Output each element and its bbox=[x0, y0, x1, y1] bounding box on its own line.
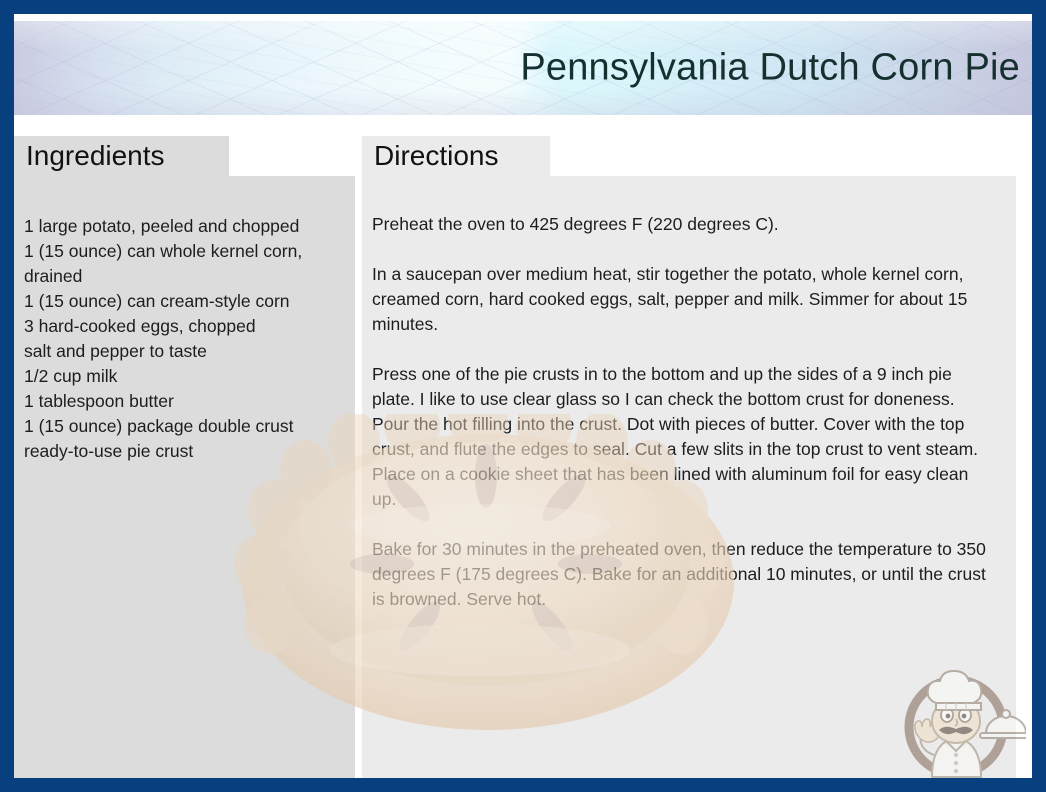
direction-step: In a saucepan over medium heat, stir tog… bbox=[372, 262, 994, 337]
direction-step: Press one of the pie crusts in to the bo… bbox=[372, 362, 994, 512]
list-item: 1 large potato, peeled and chopped bbox=[24, 214, 341, 239]
directions-panel: Directions Preheat the oven to 425 degre… bbox=[362, 136, 1032, 778]
ingredients-heading: Ingredients bbox=[14, 136, 229, 176]
list-item: 1 (15 ounce) package double crust ready-… bbox=[24, 414, 341, 464]
recipe-card: Pennsylvania Dutch Corn Pie bbox=[14, 14, 1032, 778]
list-item: 1 (15 ounce) can whole kernel corn, drai… bbox=[24, 239, 341, 289]
header-banner: Pennsylvania Dutch Corn Pie bbox=[14, 21, 1032, 115]
directions-heading: Directions bbox=[362, 136, 550, 176]
list-item: salt and pepper to taste bbox=[24, 339, 341, 364]
list-item: 1 (15 ounce) can cream-style corn bbox=[24, 289, 341, 314]
list-item: 1 tablespoon butter bbox=[24, 389, 341, 414]
direction-step: Preheat the oven to 425 degrees F (220 d… bbox=[372, 212, 994, 237]
list-item: 1/2 cup milk bbox=[24, 364, 341, 389]
ingredients-panel: Ingredients 1 large potato, peeled and c… bbox=[14, 136, 355, 778]
direction-step: Bake for 30 minutes in the preheated ove… bbox=[372, 537, 994, 612]
page-title: Pennsylvania Dutch Corn Pie bbox=[520, 47, 1020, 90]
directions-steps: Preheat the oven to 425 degrees F (220 d… bbox=[362, 176, 1016, 778]
ingredients-list: 1 large potato, peeled and chopped 1 (15… bbox=[14, 176, 355, 778]
list-item: 3 hard-cooked eggs, chopped bbox=[24, 314, 341, 339]
